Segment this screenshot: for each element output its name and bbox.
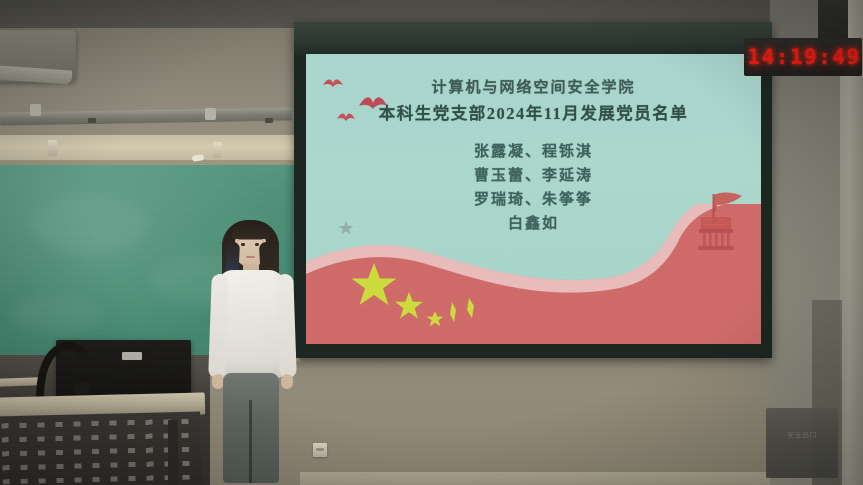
rail-bracket <box>30 104 41 116</box>
slide-title-line1: 计算机与网络空间安全学院 <box>306 76 761 97</box>
small-gray-star-icon <box>338 220 354 236</box>
rail-fitting <box>265 118 273 123</box>
slide-title-line2: 本科生党支部2024年11月发展党员名单 <box>306 100 761 124</box>
name-line: 曹玉蕾、李延涛 <box>306 164 761 188</box>
yellow-star-large-icon <box>350 261 398 309</box>
wall-mounted-sign <box>766 408 838 478</box>
eye-left <box>241 243 245 246</box>
yellow-star-sliver-icon <box>463 297 479 319</box>
eye-right <box>255 243 259 246</box>
standing-presenter <box>196 218 308 485</box>
rail-bracket <box>205 108 216 120</box>
arm-left <box>208 274 229 379</box>
chalk-smudge <box>30 195 150 255</box>
classroom-photo-scene: 计算机与网络空间安全学院 本科生党支部2024年11月发展党员名单 张露凝、程铄… <box>0 0 863 485</box>
digital-clock-time: 14:19:49 <box>748 44 860 70</box>
wall-light-switch[interactable] <box>313 443 327 457</box>
yellow-star-sliver-icon <box>447 301 461 323</box>
hand-right <box>281 374 293 389</box>
chalk-smudge <box>10 295 100 335</box>
wall-sign-text: 安全出口 <box>770 432 834 440</box>
monitor-label-sticker <box>122 352 142 360</box>
pants-seam <box>249 400 252 483</box>
mouth <box>246 256 255 258</box>
yellow-star-medium-icon <box>394 291 424 321</box>
yellow-star-small-icon <box>426 310 444 328</box>
board-hook <box>48 140 57 156</box>
projected-slide: 计算机与网络空间安全学院 本科生党支部2024年11月发展党员名单 张露凝、程铄… <box>306 54 761 344</box>
arm-right <box>276 274 297 379</box>
hair-fringe <box>232 222 270 239</box>
rail-fitting <box>88 118 96 123</box>
name-line: 张露凝、程铄淇 <box>306 140 761 164</box>
projection-screen-header <box>294 22 772 56</box>
board-hook <box>213 142 222 158</box>
floor-baseboard <box>300 472 770 485</box>
podium-perforated-panel <box>1 418 194 485</box>
podium-leg <box>168 420 178 485</box>
red-flag-monument-icon <box>689 189 749 261</box>
document-camera-arm <box>30 338 90 402</box>
